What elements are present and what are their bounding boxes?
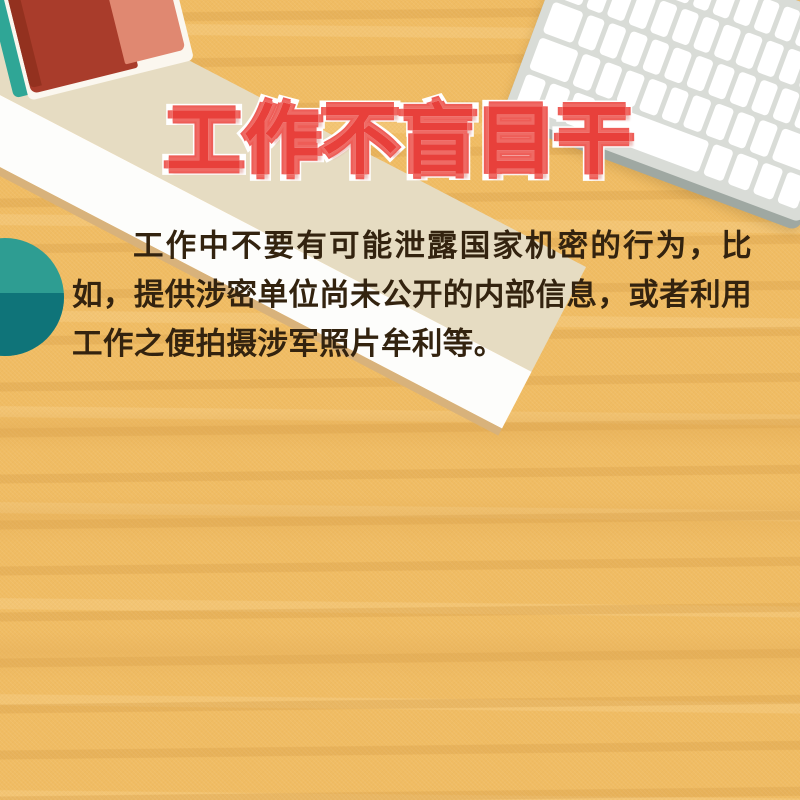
poster-body-text: 工作中不要有可能泄露国家机密的行为，比如，提供涉密单位尚未公开的内部信息，或者利…: [72, 222, 752, 369]
teal-circle-lower-half: [0, 293, 64, 356]
poster-canvas: 工作不盲目干 工作中不要有可能泄露国家机密的行为，比如，提供涉密单位尚未公开的内…: [0, 0, 800, 800]
poster-headline: 工作不盲目干: [0, 103, 800, 179]
